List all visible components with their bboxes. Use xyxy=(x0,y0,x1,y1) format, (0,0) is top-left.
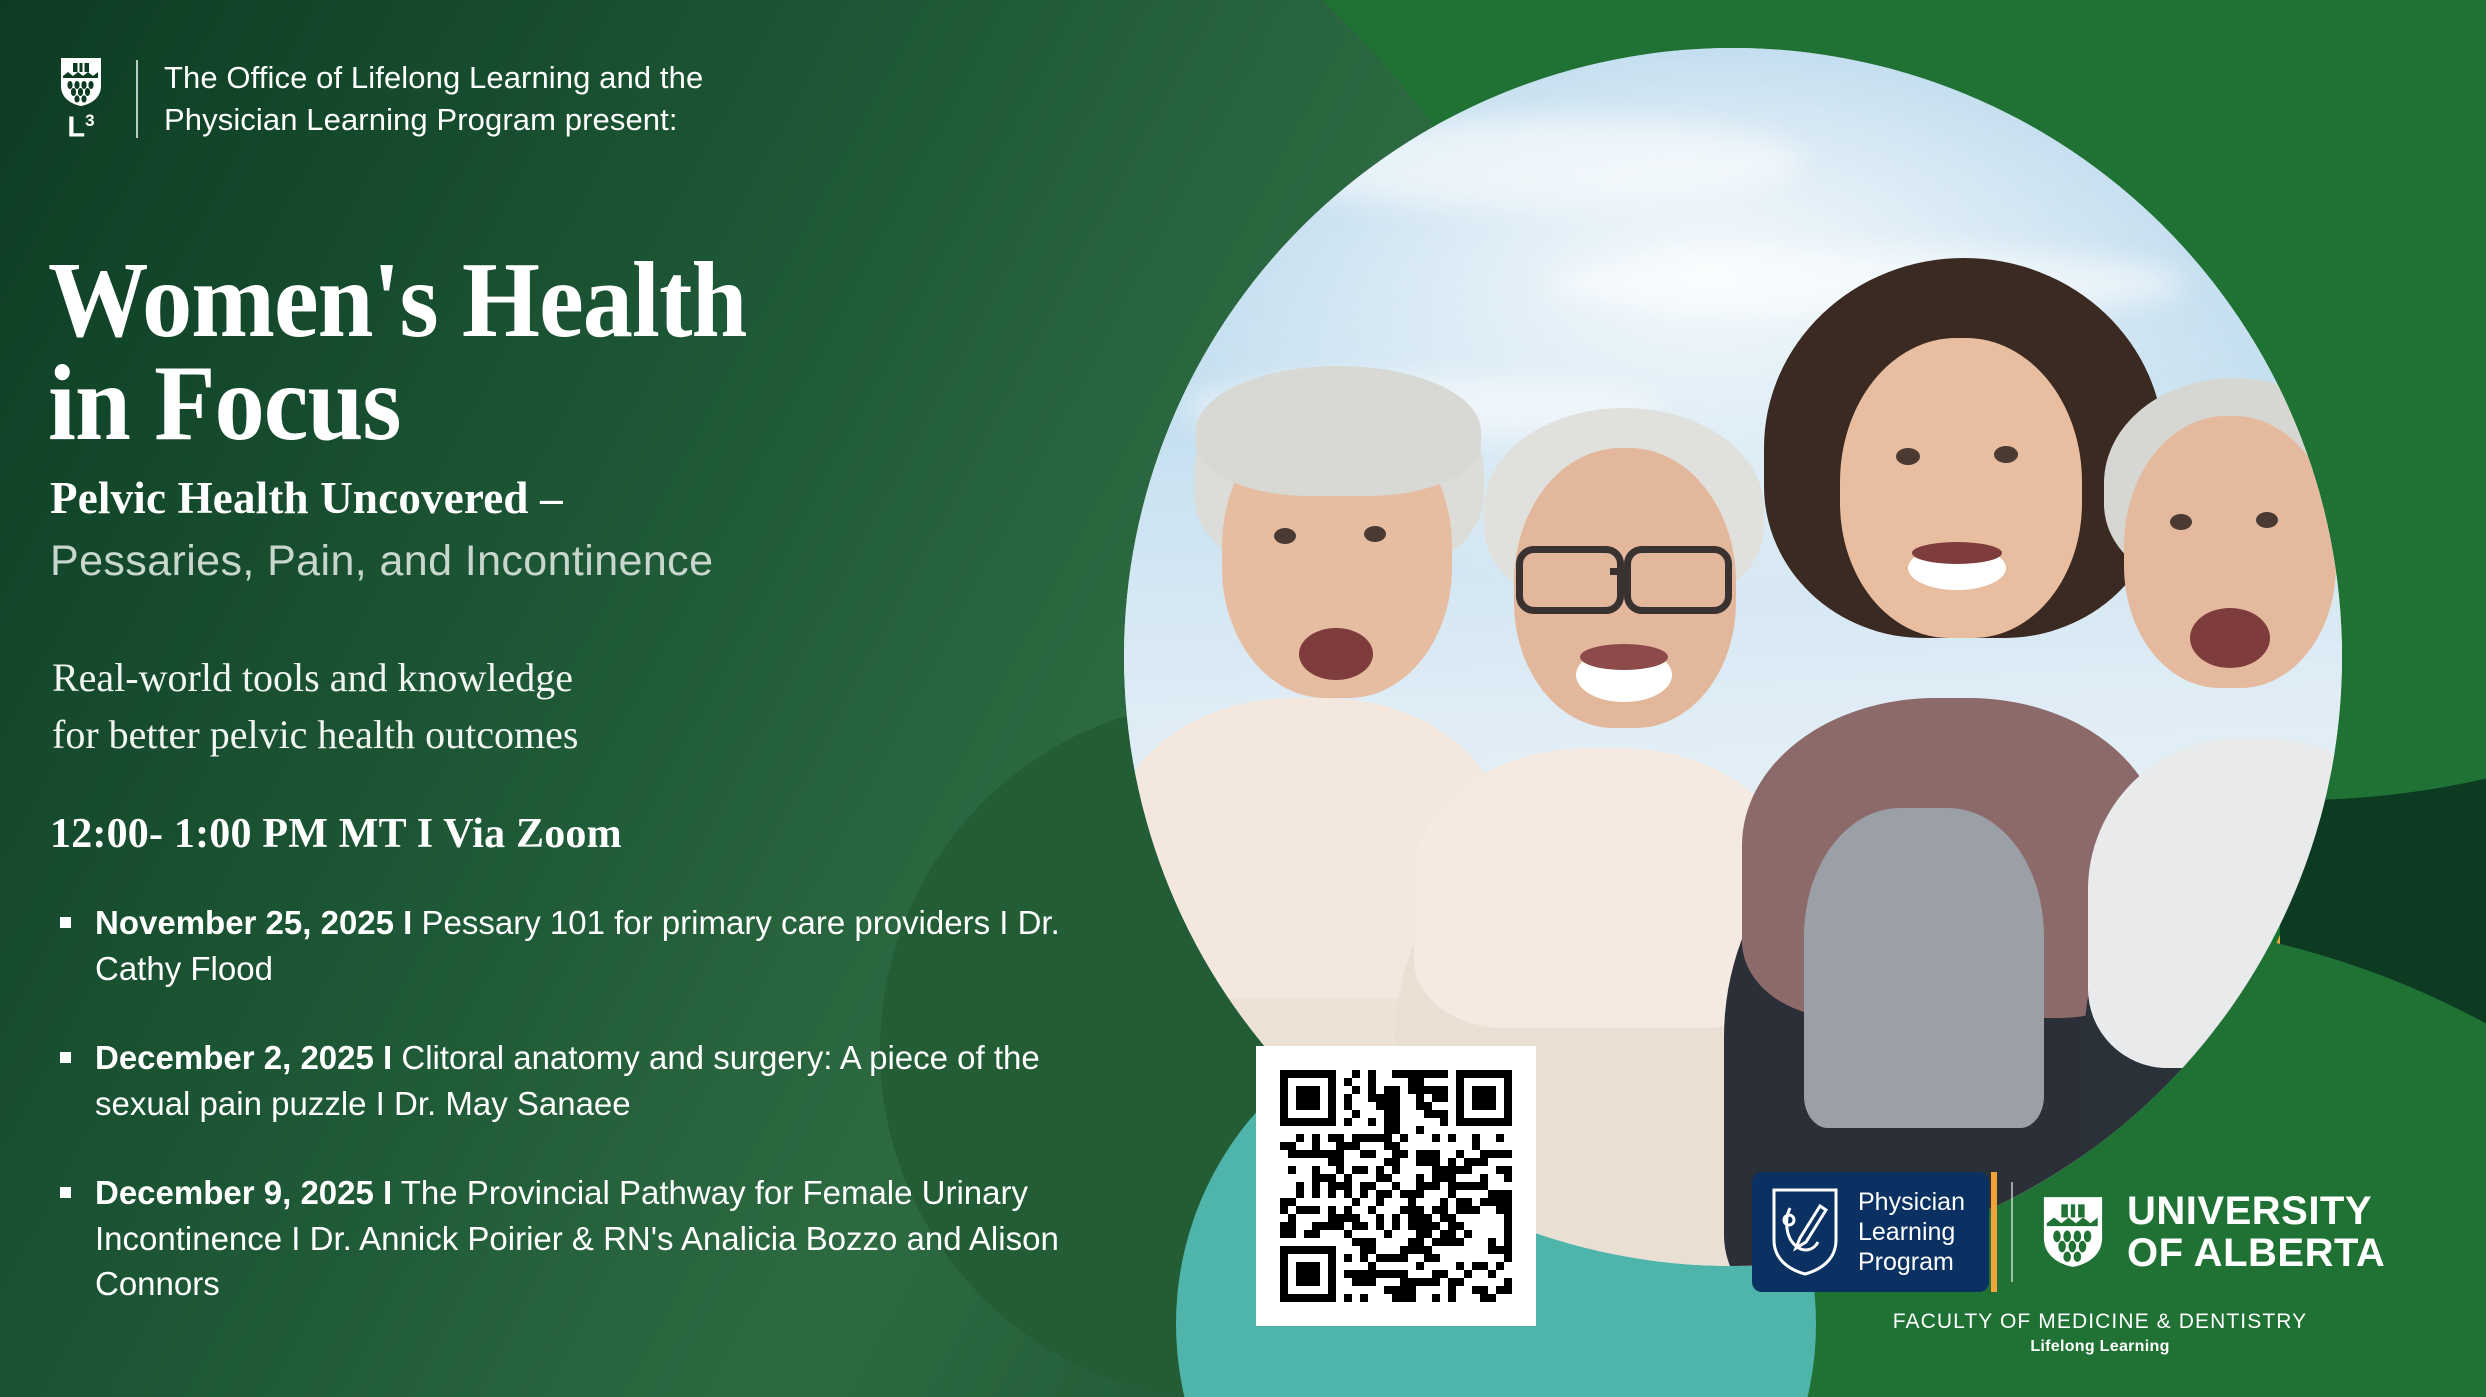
plp-line-1: Physician xyxy=(1858,1187,1965,1217)
presenter-header: L3 The Office of Lifelong Learning and t… xyxy=(52,56,703,143)
subtitle-main: Pelvic Health Uncovered – xyxy=(50,472,563,524)
ua-shield-icon xyxy=(59,56,103,108)
session-text: December 2, 2025 I Clitoral anatomy and … xyxy=(95,1035,1060,1126)
ua-wordmark: UNIVERSITY OF ALBERTA xyxy=(2127,1190,2385,1274)
session-text: December 9, 2025 I The Provincial Pathwa… xyxy=(95,1170,1060,1307)
gold-divider xyxy=(1991,1172,1997,1292)
bullet-square-icon xyxy=(60,1052,71,1063)
white-divider xyxy=(2011,1182,2013,1282)
faculty-attribution: FACULTY OF MEDICINE & DENTISTRY Lifelong… xyxy=(1893,1310,2308,1356)
tagline-line-1: Real-world tools and knowledge xyxy=(52,650,578,707)
university-of-alberta-logo: UNIVERSITY OF ALBERTA xyxy=(2041,1172,2385,1292)
registration-qr-code[interactable] xyxy=(1256,1046,1536,1326)
ua-shield-icon xyxy=(2041,1192,2105,1272)
plp-line-3: Program xyxy=(1858,1247,1965,1277)
bullet-square-icon xyxy=(60,917,71,928)
text-content-column: L3 The Office of Lifelong Learning and t… xyxy=(0,0,1120,1397)
lifelong-learning-label: Lifelong Learning xyxy=(1893,1338,2308,1356)
l3-wordmark: L3 xyxy=(67,112,94,143)
physician-learning-program-logo: Physician Learning Program xyxy=(1752,1172,1989,1292)
plp-wordmark: Physician Learning Program xyxy=(1858,1187,1965,1277)
poster-canvas: L3 The Office of Lifelong Learning and t… xyxy=(0,0,2486,1397)
session-list: November 25, 2025 I Pessary 101 for prim… xyxy=(60,900,1060,1351)
tagline-line-2: for better pelvic health outcomes xyxy=(52,707,578,764)
presenter-text: The Office of Lifelong Learning and the … xyxy=(164,57,703,143)
footer-logo-lockup: Physician Learning Program xyxy=(1752,1172,2385,1292)
title-line-1: Women's Health xyxy=(48,250,746,353)
header-divider xyxy=(136,60,138,138)
page-title: Women's Health in Focus xyxy=(48,250,746,455)
session-text: November 25, 2025 I Pessary 101 for prim… xyxy=(95,900,1060,991)
list-item: December 9, 2025 I The Provincial Pathwa… xyxy=(60,1170,1060,1307)
session-date: December 9, 2025 I xyxy=(95,1174,392,1211)
ua-line-2: OF ALBERTA xyxy=(2127,1232,2385,1274)
presenter-line-2: Physician Learning Program present: xyxy=(164,99,703,142)
qr-module-grid xyxy=(1280,1070,1512,1302)
time-and-platform: 12:00- 1:00 PM MT I Via Zoom xyxy=(50,810,622,858)
title-line-2: in Focus xyxy=(48,353,746,456)
plp-stethoscope-shield-icon xyxy=(1770,1186,1840,1278)
presenter-line-1: The Office of Lifelong Learning and the xyxy=(164,57,703,100)
bullet-square-icon xyxy=(60,1187,71,1198)
session-date: November 25, 2025 I xyxy=(95,904,412,941)
subtitle-sub: Pessaries, Pain, and Incontinence xyxy=(50,537,713,586)
session-date: December 2, 2025 I xyxy=(95,1039,392,1076)
faculty-name: FACULTY OF MEDICINE & DENTISTRY xyxy=(1893,1310,2308,1334)
plp-line-2: Learning xyxy=(1858,1217,1965,1247)
list-item: December 2, 2025 I Clitoral anatomy and … xyxy=(60,1035,1060,1126)
tagline: Real-world tools and knowledge for bette… xyxy=(52,650,578,764)
ua-line-1: UNIVERSITY xyxy=(2127,1190,2385,1232)
ua-shield-l3-logo: L3 xyxy=(52,56,110,143)
list-item: November 25, 2025 I Pessary 101 for prim… xyxy=(60,900,1060,991)
